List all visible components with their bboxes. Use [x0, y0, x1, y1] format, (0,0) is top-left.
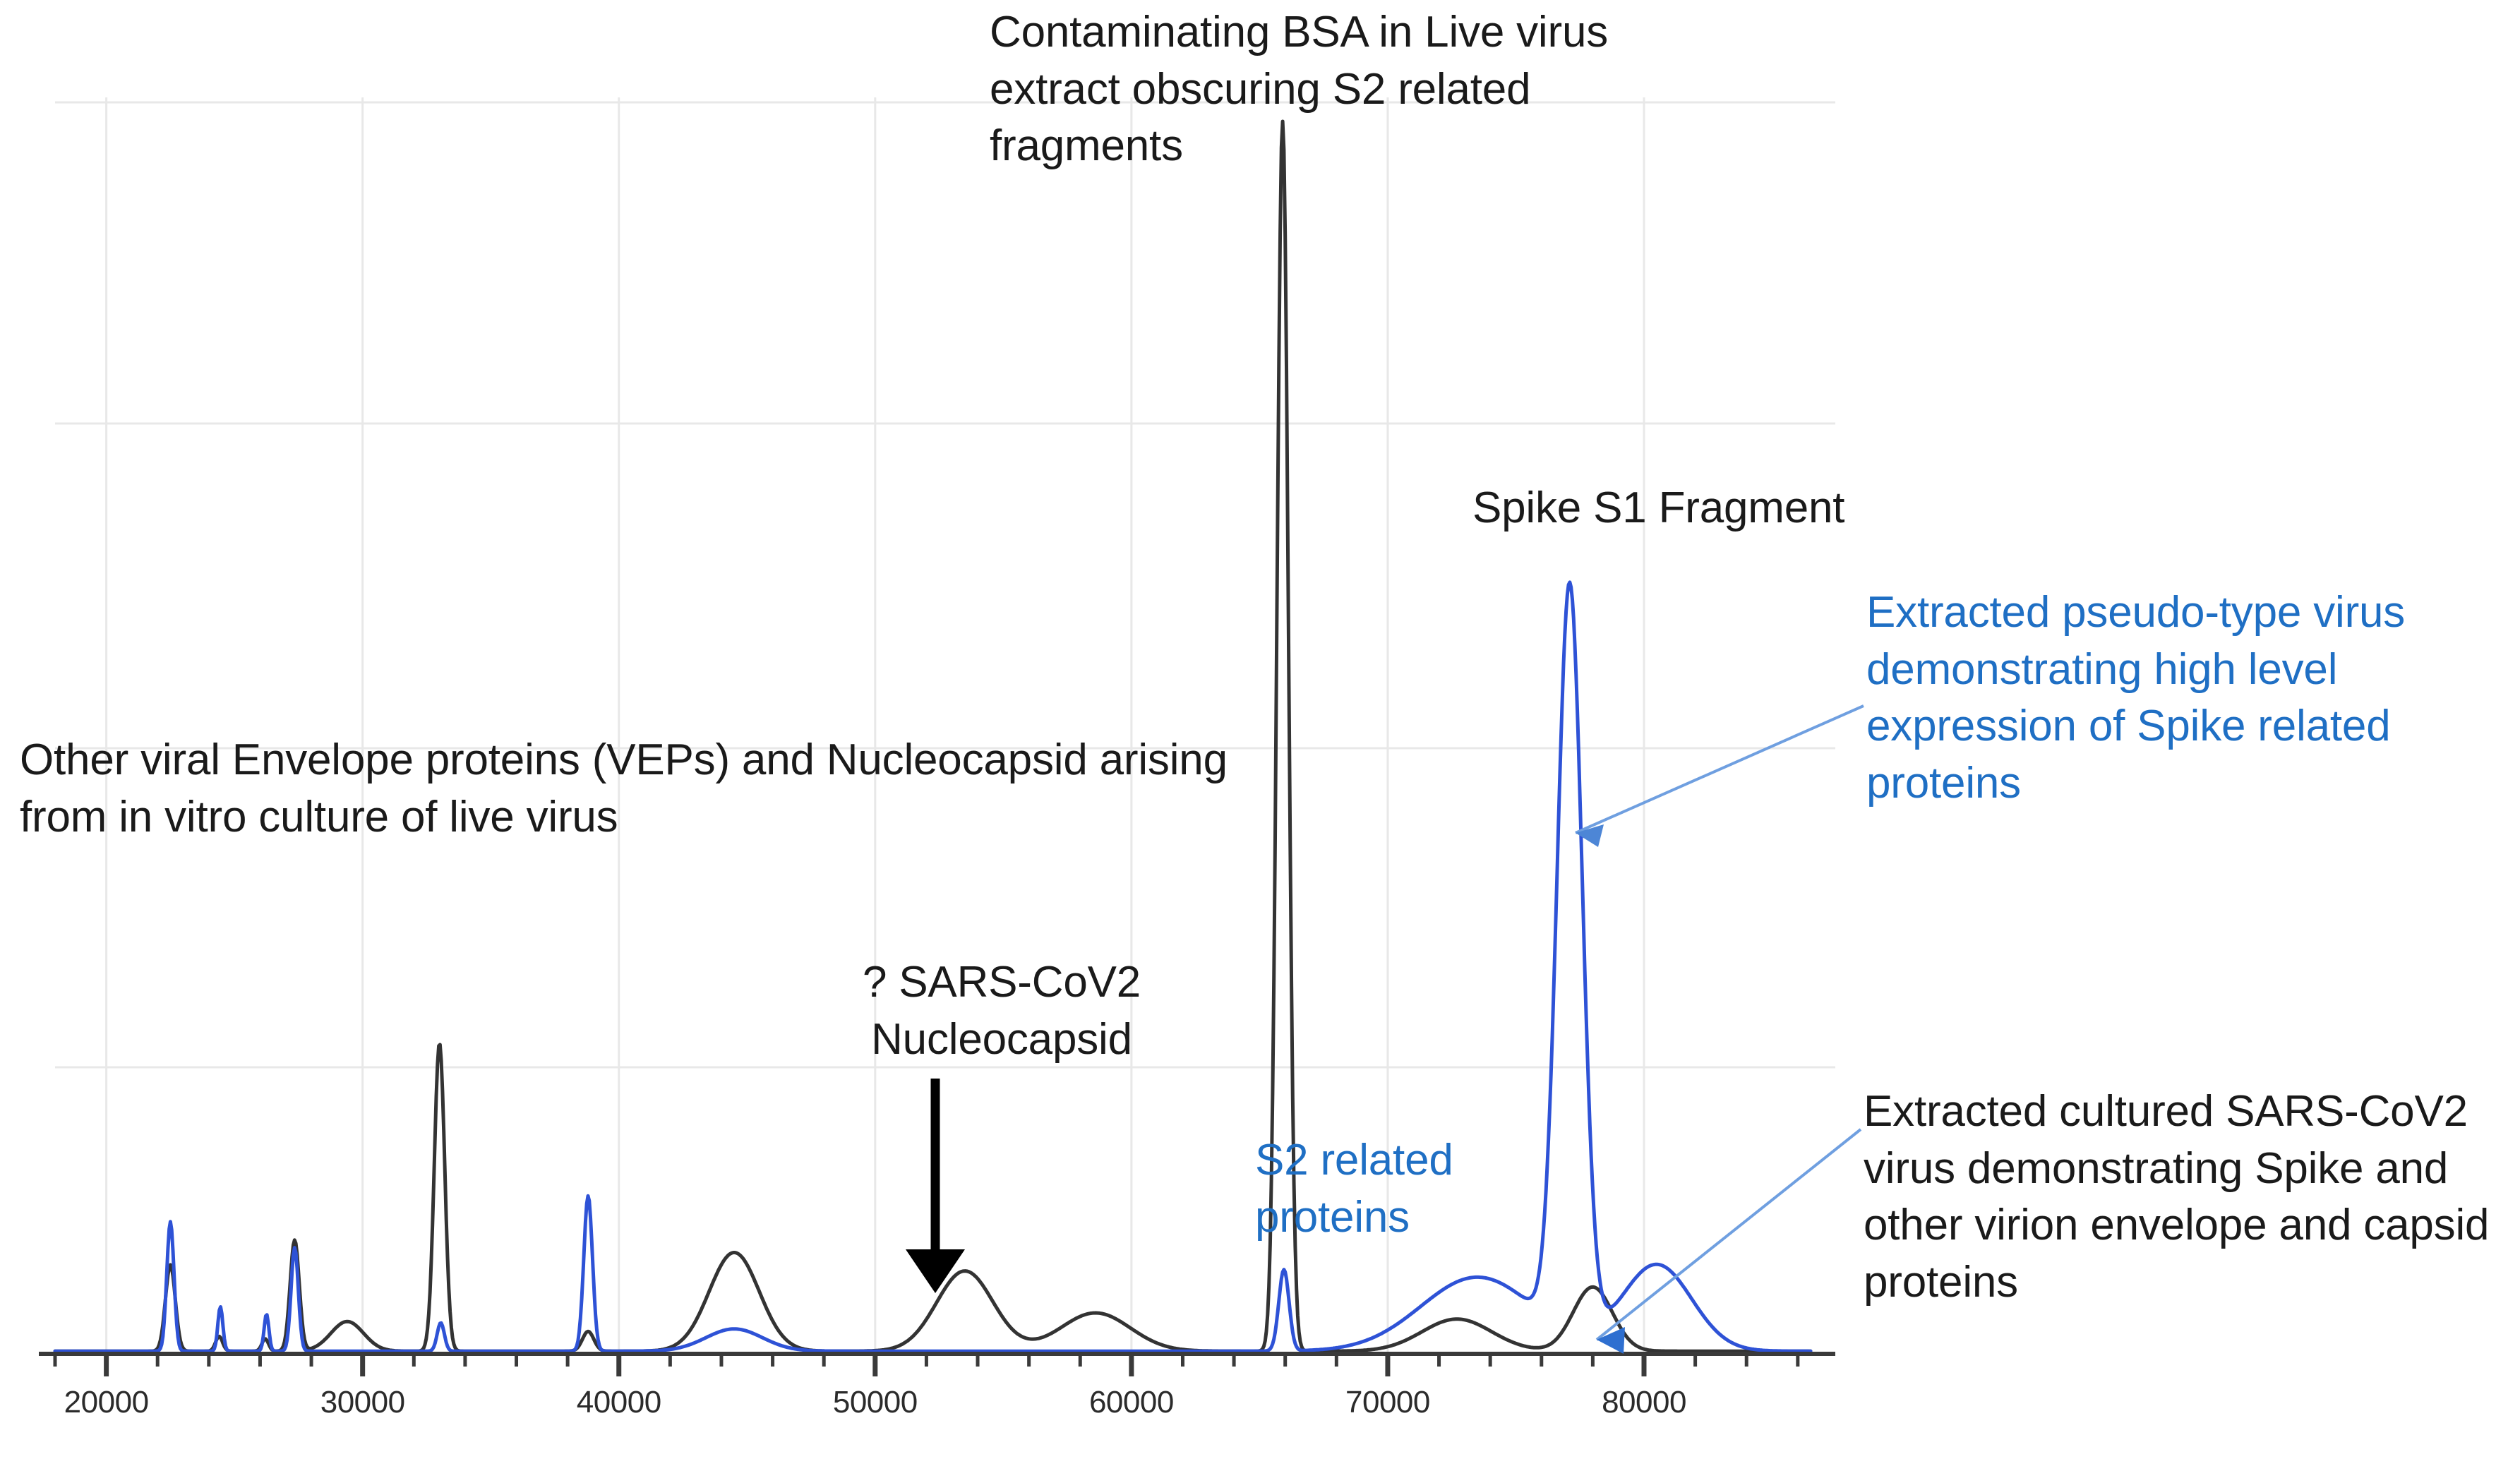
x-axis-tick-label: 20000	[64, 1385, 149, 1420]
leader-arrow-cultured	[1597, 1327, 1625, 1354]
x-axis-tick-label: 80000	[1602, 1385, 1686, 1420]
annotation-viral-envelope-proteins: Other viral Envelope proteins (VEPs) and…	[20, 732, 1262, 846]
annotation-contaminating-bsa: Contaminating BSA in Live virus extract …	[990, 4, 1703, 175]
annotation-extracted-pseudotype-virus: Extracted pseudo-type virus demonstratin…	[1866, 584, 2431, 812]
figure-canvas: Contaminating BSA in Live virus extract …	[0, 0, 2520, 1459]
annotation-extracted-cultured-virus: Extracted cultured SARS-CoV2 virus demon…	[1864, 1083, 2520, 1311]
x-axis	[39, 1354, 1835, 1376]
x-axis-tick-label: 40000	[577, 1385, 661, 1420]
annotation-s2-related-proteins: S2 related proteins	[1255, 1132, 1552, 1246]
x-axis-ticks	[55, 1354, 1798, 1376]
x-axis-tick-label: 60000	[1089, 1385, 1174, 1420]
x-axis-tick-label: 50000	[833, 1385, 918, 1420]
nucleocapsid-arrow-head	[906, 1249, 965, 1293]
x-axis-tick-label: 70000	[1345, 1385, 1430, 1420]
annotation-sars-cov2-nucleocapsid: ? SARS-CoV2 Nucleocapsid	[804, 954, 1199, 1068]
leader-line-pseudotype	[1576, 706, 1864, 833]
annotation-spike-s1-fragment: Spike S1 Fragment	[1472, 480, 1854, 537]
x-axis-tick-label: 30000	[320, 1385, 405, 1420]
leader-line-cultured	[1597, 1129, 1861, 1340]
